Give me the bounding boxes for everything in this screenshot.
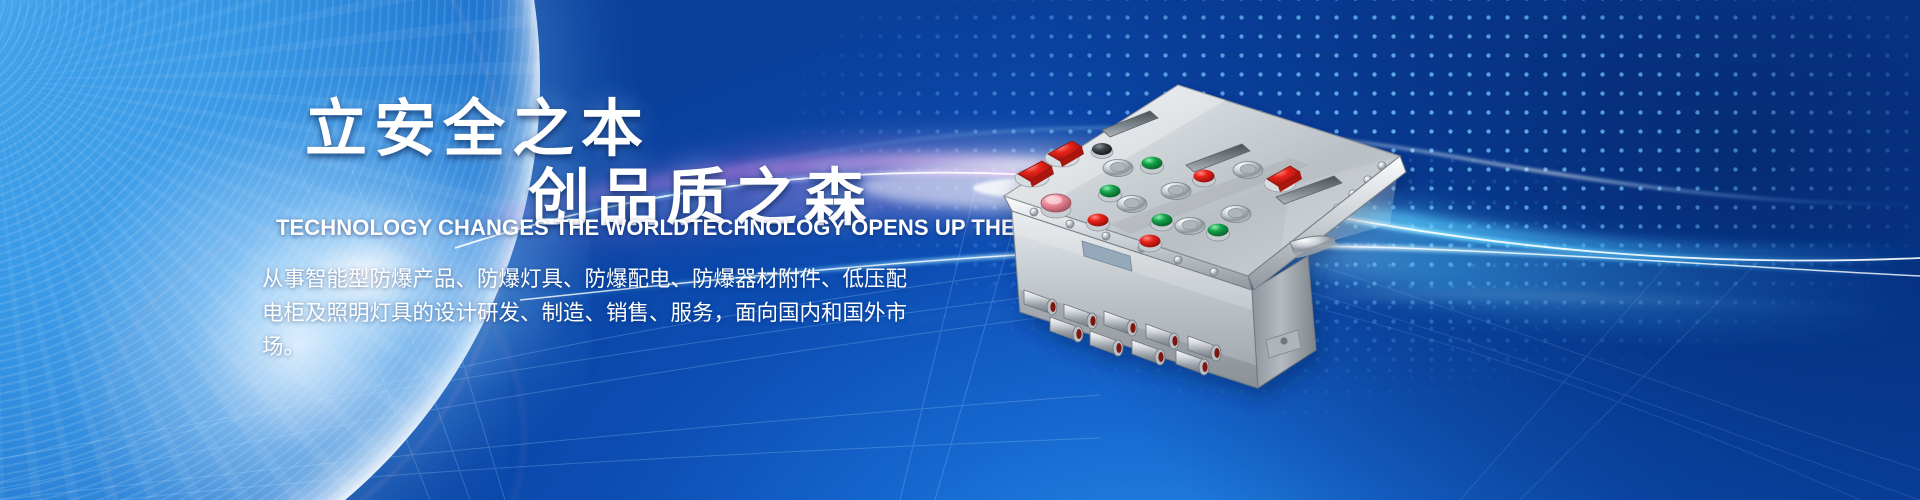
indicator-chrome-2 [1161, 183, 1191, 200]
tagline-english: TECHNOLOGY CHANGES THE WORLDTECHNOLOGY O… [276, 215, 1112, 241]
indicator-chrome-4 [1175, 218, 1205, 235]
indicator-chrome-1 [1103, 160, 1133, 177]
product-explosion-proof-control-box [990, 28, 1440, 428]
description-line-2: 电柜及照明灯具的设计研发、制造、销售、服务，面向国内和国外市场。 [262, 296, 942, 364]
pushbutton-red-2 [1087, 214, 1110, 231]
hero-banner: 立安全之本 创品质之森 TECHNOLOGY CHANGES THE WORLD… [0, 0, 1920, 500]
indicator-chrome-5 [1221, 206, 1251, 223]
copy-block: 立安全之本 创品质之森 TECHNOLOGY CHANGES THE WORLD… [0, 0, 1000, 500]
pushbutton-green-4 [1207, 224, 1230, 241]
description-text: 从事智能型防爆产品、防爆灯具、防爆配电、防爆器材附件、低压配 电柜及照明灯具的设… [262, 262, 942, 364]
description-line-1: 从事智能型防爆产品、防爆灯具、防爆配电、防爆器材附件、低压配 [262, 267, 907, 291]
pushbutton-green-3 [1151, 214, 1174, 231]
emergency-stop-button [1041, 194, 1071, 218]
pushbutton-dark [1091, 143, 1113, 159]
indicator-chrome-3 [1117, 196, 1147, 213]
product-body [1004, 85, 1406, 388]
pushbutton-green-2 [1099, 185, 1122, 202]
pushbutton-green-1 [1141, 157, 1164, 174]
pushbutton-red-3 [1139, 235, 1162, 252]
pushbutton-red-1 [1193, 170, 1216, 187]
indicator-chrome-6 [1233, 162, 1263, 179]
